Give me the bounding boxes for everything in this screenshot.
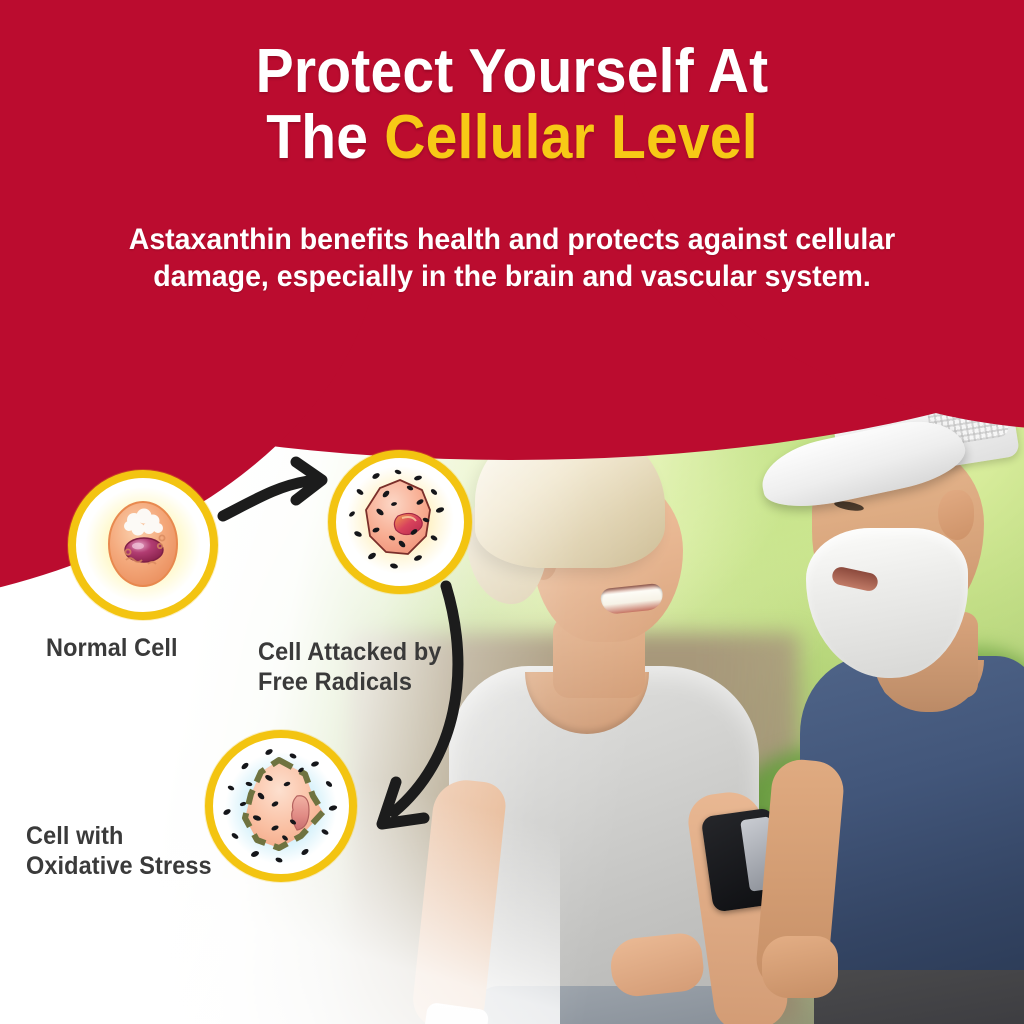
normal-cell-label-line1: Normal Cell — [46, 634, 178, 664]
normal-cell-art — [76, 478, 210, 612]
normal-cell-circle — [68, 470, 218, 620]
normal-cell-label: Normal Cell — [46, 634, 178, 664]
attacked-cell-circle — [328, 450, 472, 594]
oxidative-stress-label-line1: Cell with — [26, 822, 212, 852]
infographic-canvas: Protect Yourself At The Cellular Level A… — [0, 0, 1024, 1024]
attacked-cell-art — [336, 458, 464, 586]
oxidative-stress-cell-label: Cell with Oxidative Stress — [26, 822, 212, 881]
arrow-normal-to-attacked — [223, 462, 322, 516]
cell-damage-diagram: Normal Cell Cell Attacked by Free Radica… — [0, 0, 1024, 1024]
oxidative-stress-label-line2: Oxidative Stress — [26, 852, 212, 882]
attacked-cell-label-line1: Cell Attacked by — [258, 638, 441, 668]
attacked-cell-label: Cell Attacked by Free Radicals — [258, 638, 441, 697]
oxidative-stress-cell-art — [213, 738, 349, 874]
arrow-attacked-to-stress — [382, 586, 458, 824]
attacked-cell-label-line2: Free Radicals — [258, 668, 441, 698]
oxidative-stress-cell-circle — [205, 730, 357, 882]
